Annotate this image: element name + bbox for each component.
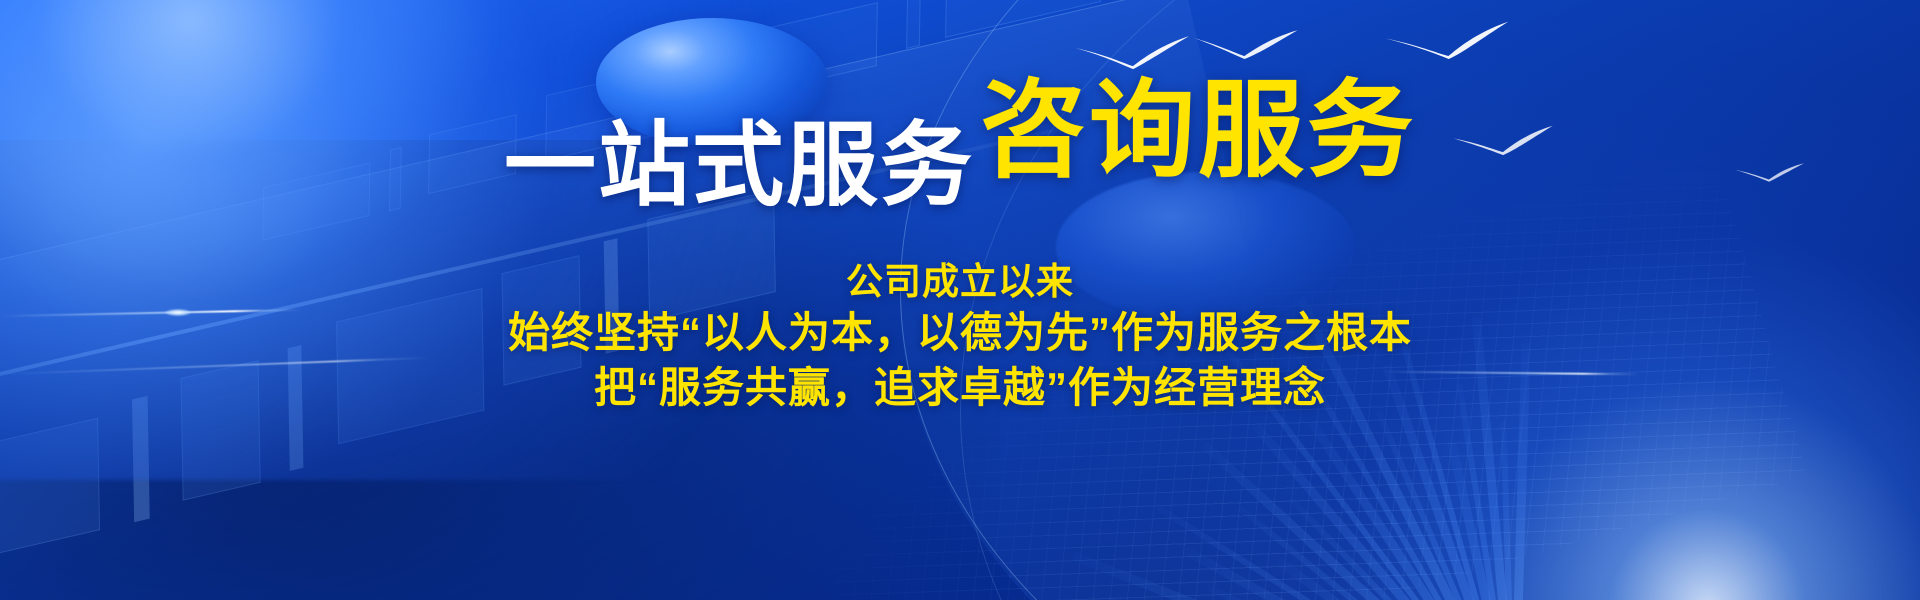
promotional-banner: 一站式服务 咨询服务 公司成立以来 始终坚持“以人为本，以德为先”作为服务之根本… (0, 0, 1920, 600)
subtitle-line-2: 始终坚持“以人为本，以德为先”作为服务之根本 (0, 306, 1920, 361)
headline-yellow-text: 咨询服务 (980, 78, 1416, 184)
subtitle-line-3: 把“服务共赢，追求卓越”作为经营理念 (0, 361, 1920, 416)
headline-white-text: 一站式服务 (504, 120, 974, 212)
geometric-block (906, 0, 921, 49)
seagull-icon (1192, 28, 1301, 62)
headline: 一站式服务 咨询服务 (0, 78, 1920, 184)
subtitle-line-1: 公司成立以来 (0, 258, 1920, 306)
subtitle-block: 公司成立以来 始终坚持“以人为本，以德为先”作为服务之根本 把“服务共赢，追求卓… (0, 258, 1920, 415)
